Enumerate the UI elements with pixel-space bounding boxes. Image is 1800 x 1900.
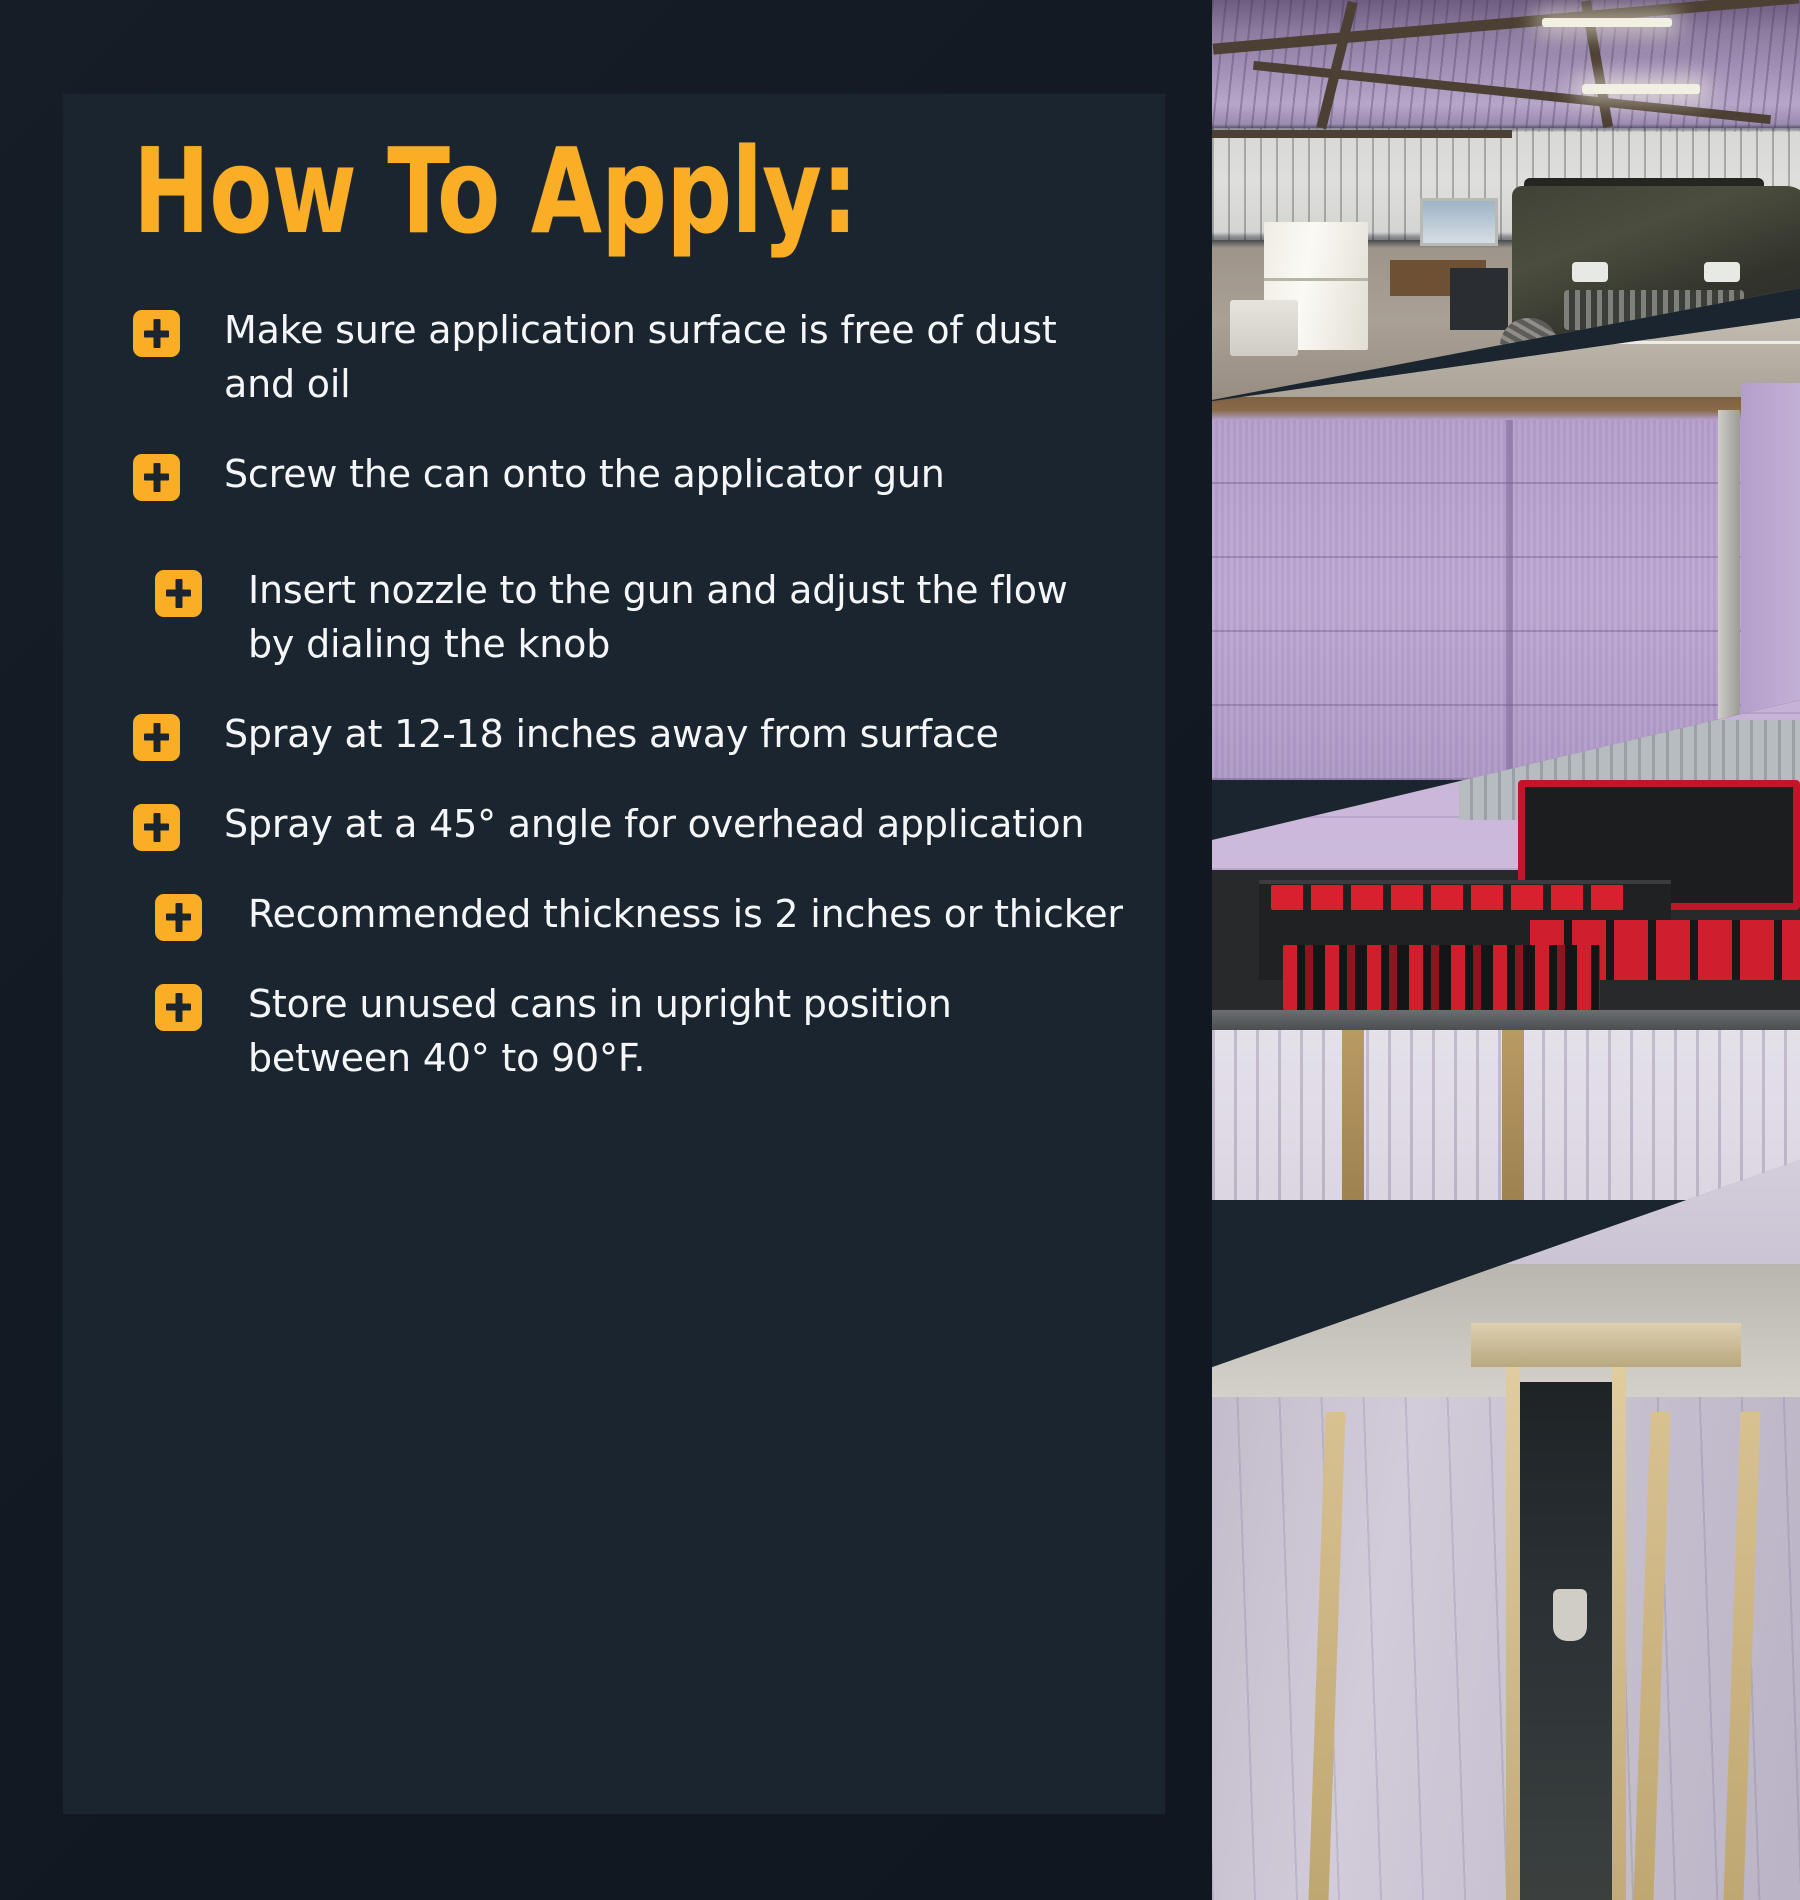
infographic-root: How To Apply: Make sure application surf… (0, 0, 1800, 1900)
step-text: Screw the can onto the applicator gun (224, 448, 945, 502)
plus-icon (155, 984, 202, 1031)
step-text: Store unused cans in upright position be… (248, 978, 1125, 1086)
step-text: Make sure application surface is free of… (224, 304, 1104, 412)
step-text: Spray at 12-18 inches away from surface (224, 708, 999, 762)
plus-icon (133, 454, 180, 501)
photo-collage (1212, 0, 1800, 1900)
plus-icon (155, 894, 202, 941)
list-item: Recommended thickness is 2 inches or thi… (133, 888, 1125, 942)
garage-door-foam-photo (1212, 318, 1800, 780)
list-item: Spray at a 45° angle for overhead applic… (133, 798, 1125, 852)
plus-icon (133, 714, 180, 761)
step-text: Spray at a 45° angle for overhead applic… (224, 798, 1084, 852)
list-item: Insert nozzle to the gun and adjust the … (133, 564, 1125, 672)
page-title: How To Apply: (133, 122, 907, 250)
list-item: Screw the can onto the applicator gun (133, 448, 1125, 502)
step-text: Insert nozzle to the gun and adjust the … (248, 564, 1125, 672)
basement-foam-photo (1212, 1160, 1800, 1900)
step-text: Recommended thickness is 2 inches or thi… (248, 888, 1123, 942)
list-item: Store unused cans in upright position be… (133, 978, 1125, 1086)
how-to-apply-card: How To Apply: Make sure application surf… (63, 94, 1165, 1814)
plus-icon (133, 310, 180, 357)
list-item: Spray at 12-18 inches away from surface (133, 708, 1125, 762)
left-panel: How To Apply: Make sure application surf… (0, 0, 1212, 1900)
steps-list: Make sure application surface is free of… (133, 304, 1125, 1086)
list-item: Make sure application surface is free of… (133, 304, 1125, 412)
plus-icon (155, 570, 202, 617)
plus-icon (133, 804, 180, 851)
